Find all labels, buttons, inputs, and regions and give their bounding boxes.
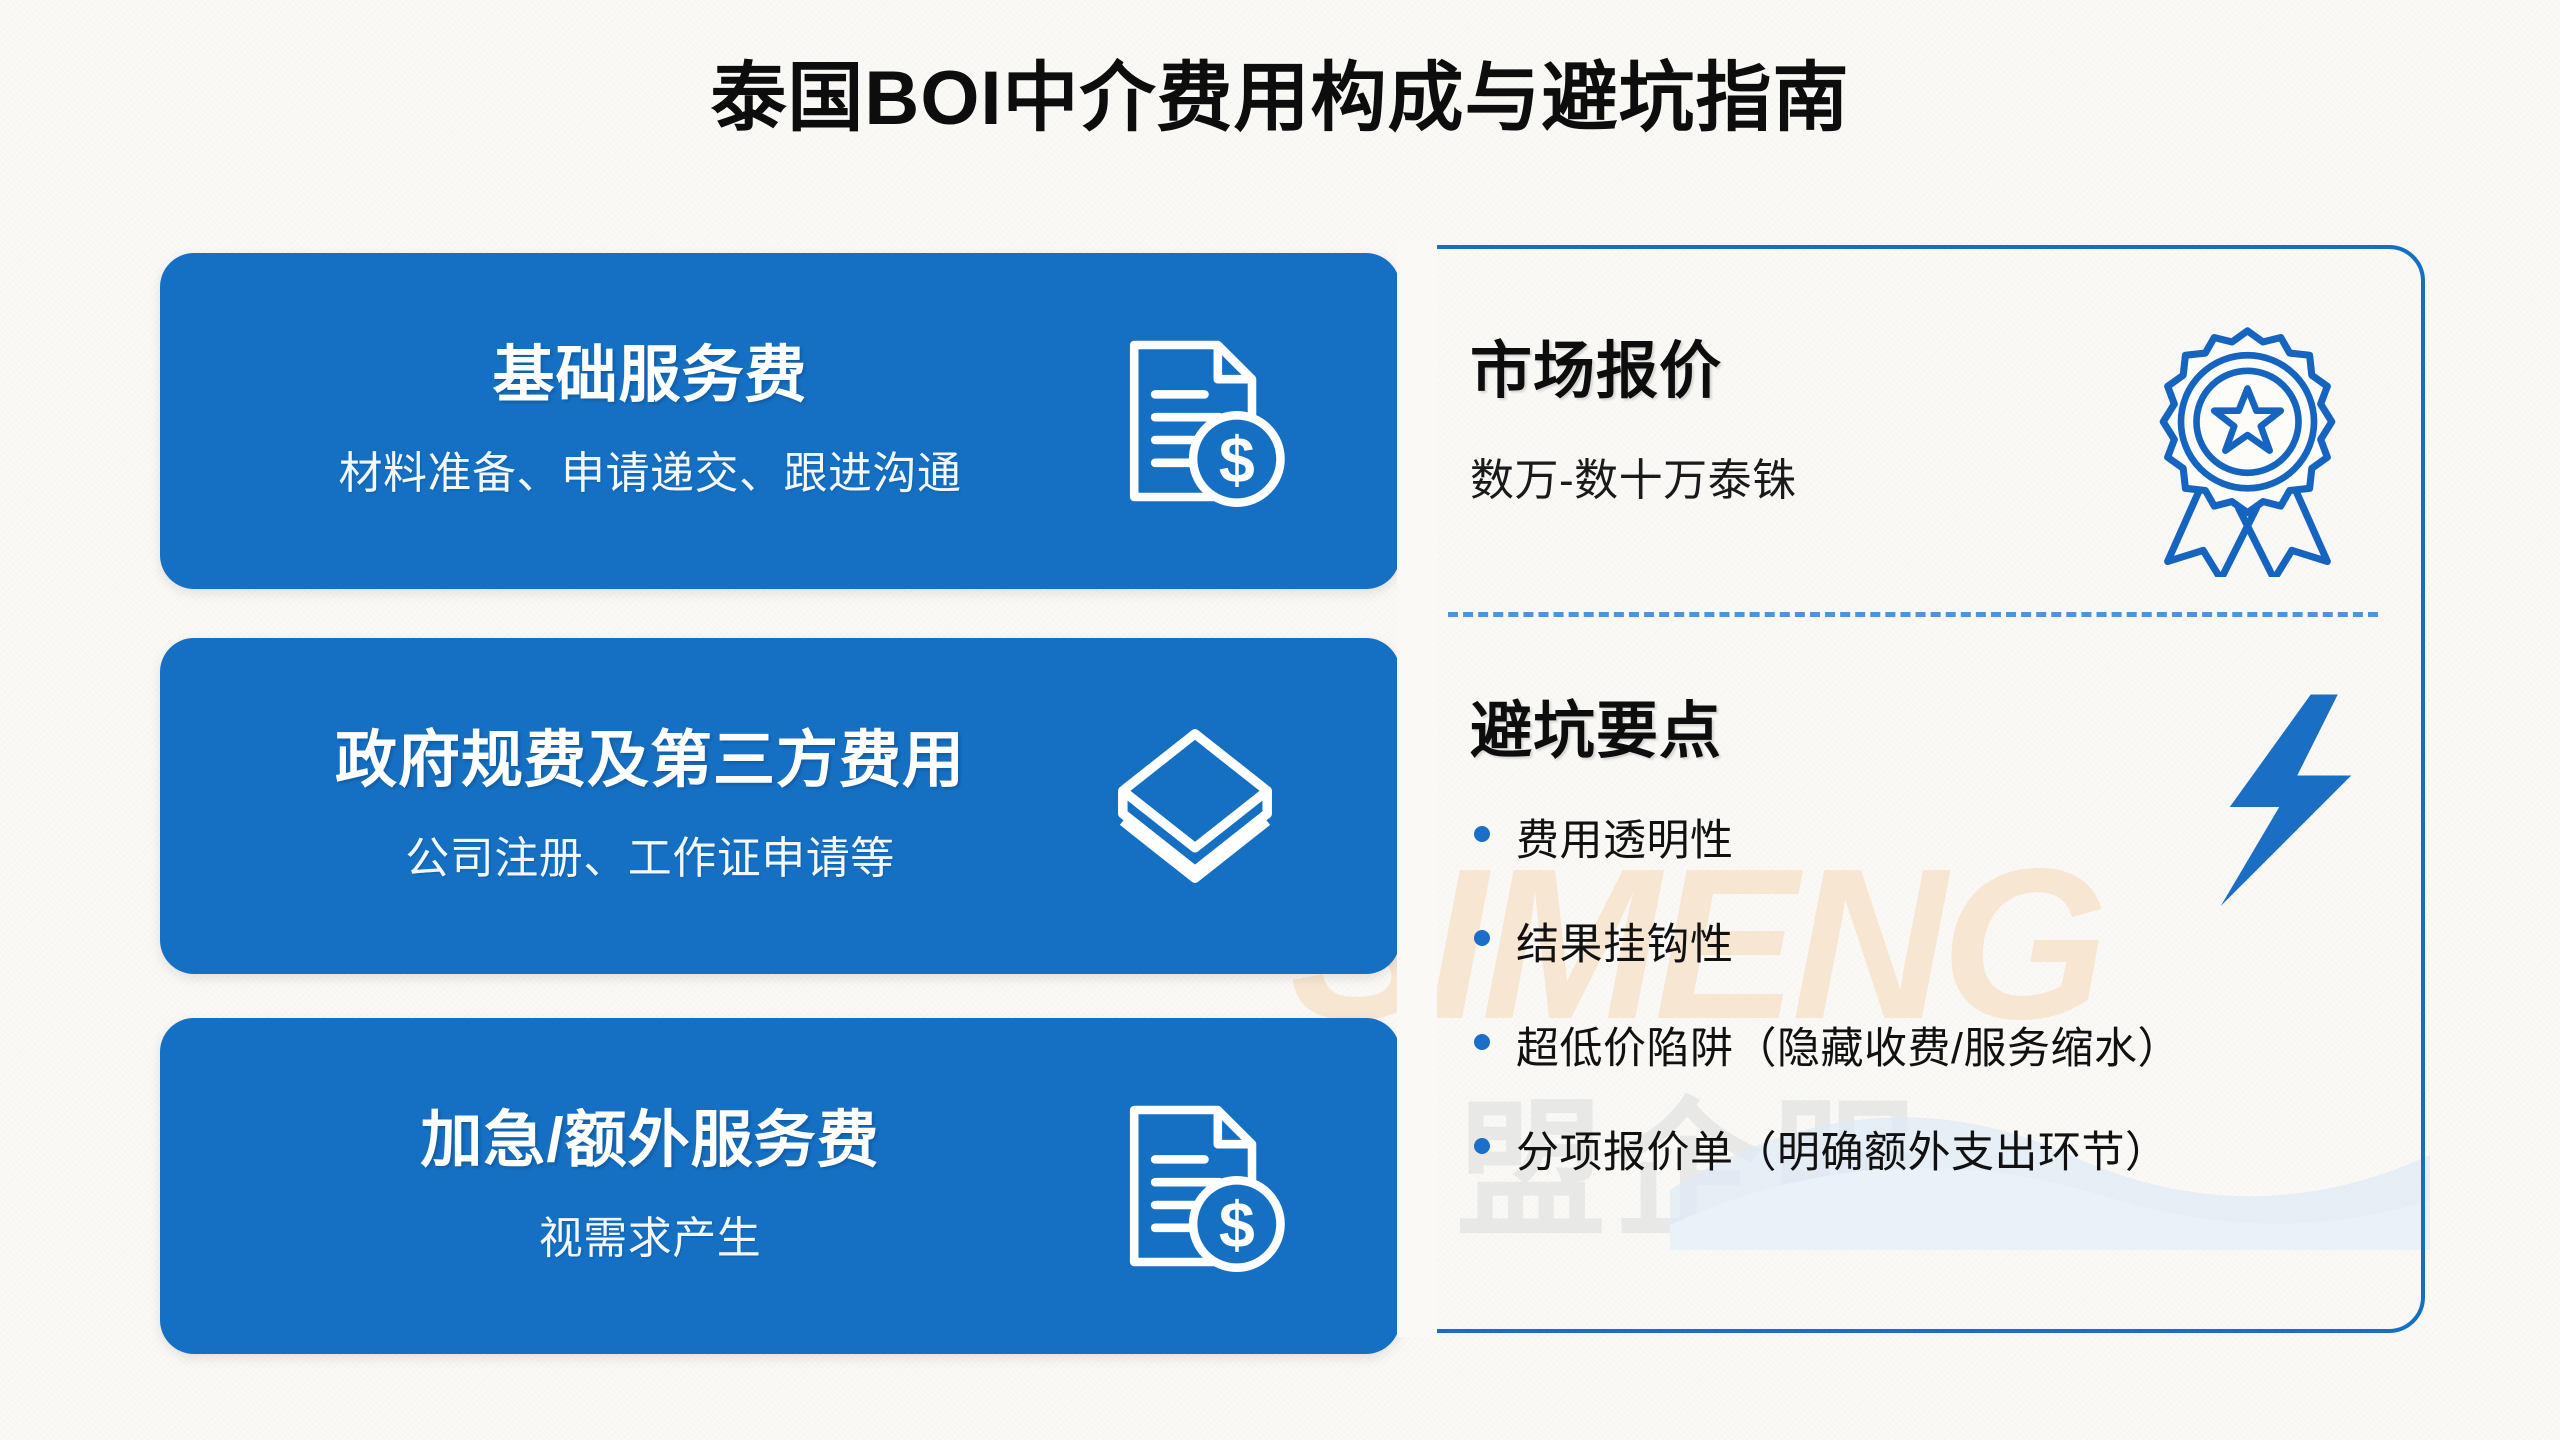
bullet-dot-icon <box>1474 1138 1490 1154</box>
document-dollar-icon: $ <box>1100 326 1290 516</box>
section-divider <box>1448 612 2378 617</box>
list-item: 分项报价单（明确额外支出环节） <box>1470 1118 2370 1180</box>
card-text-block: 政府规费及第三方费用 公司注册、工作证申请等 <box>160 638 1110 974</box>
card-title: 政府规费及第三方费用 <box>335 726 965 795</box>
list-item: 结果挂钩性 <box>1470 910 2370 972</box>
panel-left-edge-mask <box>1397 241 1437 1337</box>
svg-text:$: $ <box>1219 424 1255 496</box>
card-title: 基础服务费 <box>492 341 807 410</box>
card-subtitle: 视需求产生 <box>539 1202 762 1266</box>
lightning-bolt-icon <box>2208 690 2373 915</box>
fee-card-government-third-party[interactable]: 政府规费及第三方费用 公司注册、工作证申请等 <box>160 638 1400 974</box>
card-title: 加急/额外服务费 <box>420 1106 879 1175</box>
bullet-dot-icon <box>1474 826 1490 842</box>
list-item-label: 费用透明性 <box>1516 817 1734 865</box>
svg-text:$: $ <box>1219 1189 1255 1261</box>
list-item-label: 结果挂钩性 <box>1516 921 1734 969</box>
fee-card-basic-service[interactable]: 基础服务费 材料准备、申请递交、跟进沟通 $ <box>160 253 1400 589</box>
document-dollar-icon: $ <box>1100 1091 1290 1281</box>
card-text-block: 基础服务费 材料准备、申请递交、跟进沟通 <box>160 253 1110 589</box>
card-subtitle: 公司注册、工作证申请等 <box>405 822 895 886</box>
list-item: 超低价陷阱（隐藏收费/服务缩水） <box>1470 1014 2370 1076</box>
page-title: 泰国BOI中介费用构成与避坑指南 <box>0 36 2560 146</box>
layers-stack-icon <box>1100 711 1290 901</box>
bullet-dot-icon <box>1474 1034 1490 1050</box>
card-text-block: 加急/额外服务费 视需求产生 <box>160 1018 1110 1354</box>
award-ribbon-icon <box>2135 322 2360 577</box>
list-item-label: 分项报价单（明确额外支出环节） <box>1516 1129 2169 1177</box>
list-item-label: 超低价陷阱（隐藏收费/服务缩水） <box>1516 1025 2181 1073</box>
card-subtitle: 材料准备、申请递交、跟进沟通 <box>339 437 962 501</box>
fee-card-rush-extra-service[interactable]: 加急/额外服务费 视需求产生 $ <box>160 1018 1400 1354</box>
bullet-dot-icon <box>1474 930 1490 946</box>
